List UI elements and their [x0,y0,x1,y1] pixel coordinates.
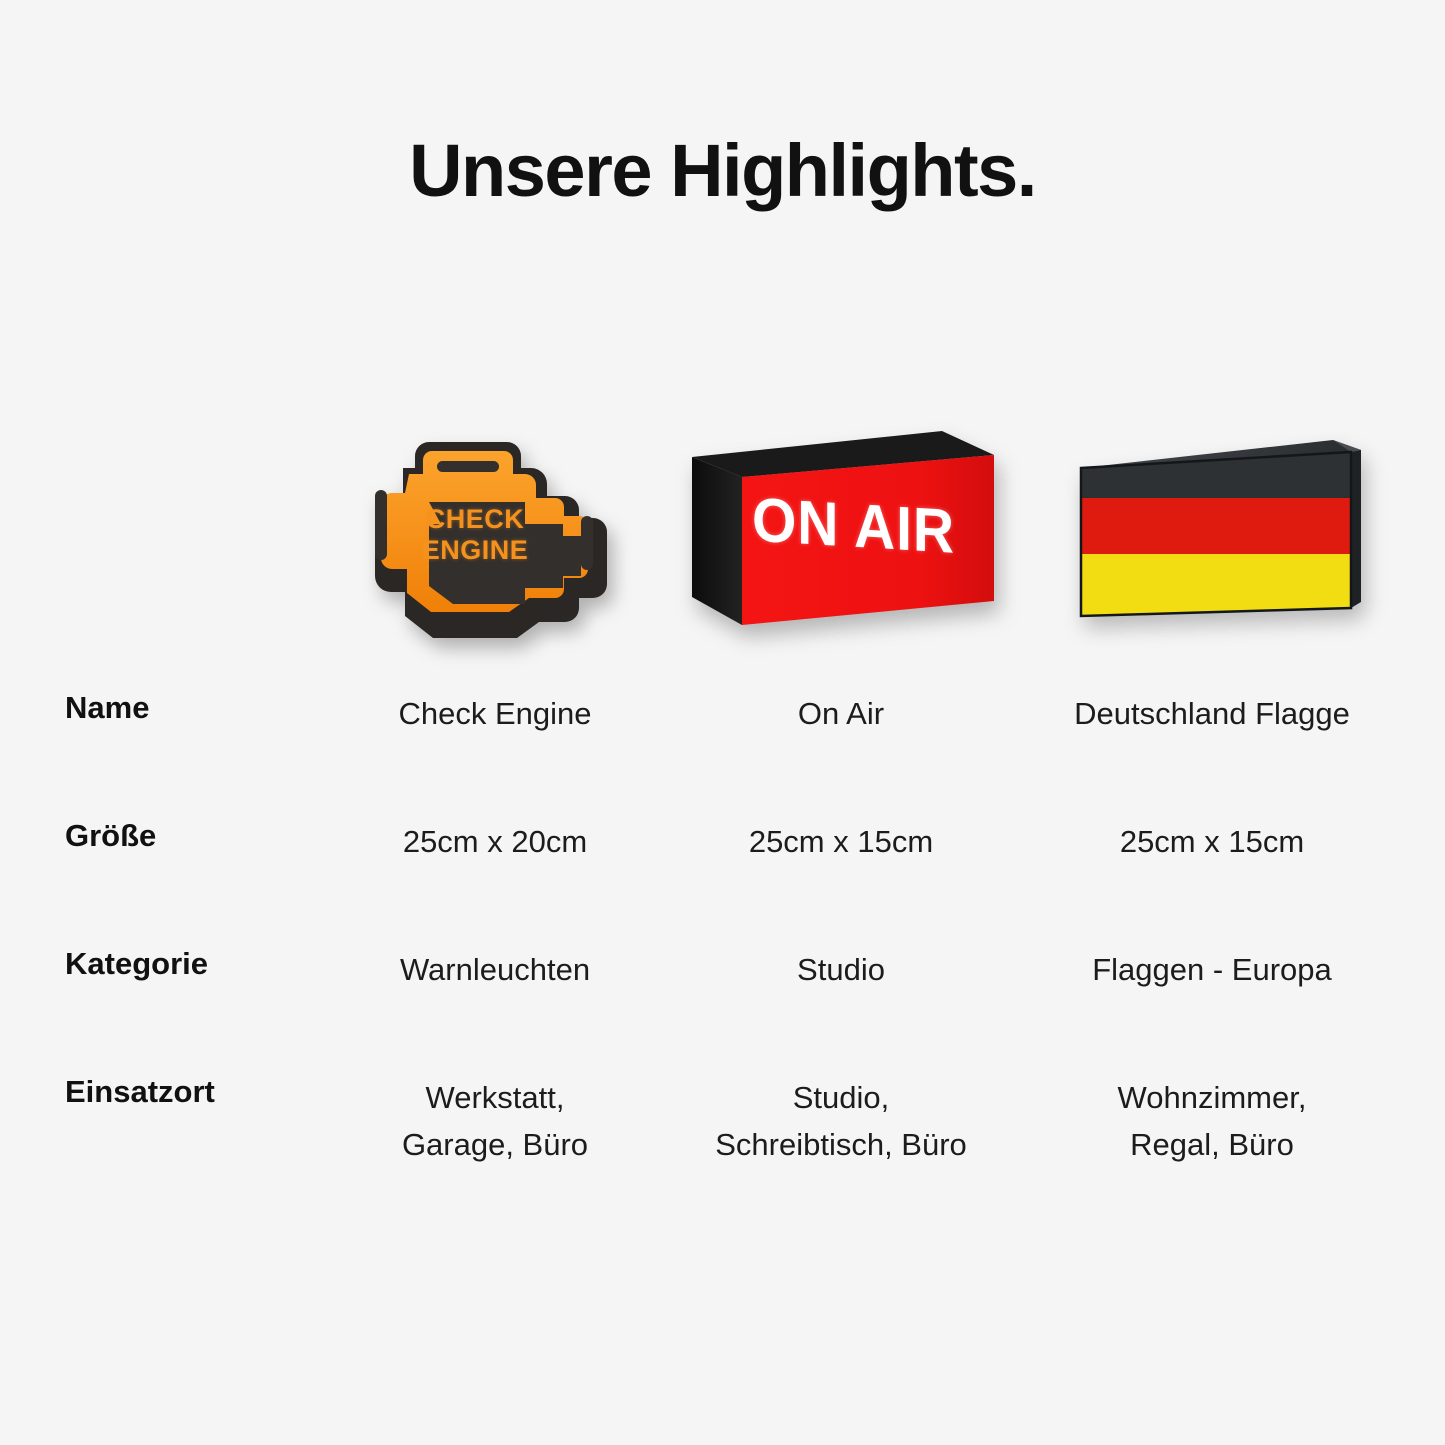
cell-name-on-air: On Air [672,690,1010,737]
check-engine-lamp-icon: CHECK ENGINE [325,418,625,644]
product-comparison-page: Unsere Highlights. [0,0,1445,1445]
on-air-lightbox-icon: ON AIR [684,429,1002,634]
table-row-einsatzort: Einsatzort Werkstatt, Garage, Büro Studi… [0,1074,1445,1224]
cell-category-check-engine: Warnleuchten [300,946,690,993]
cell-size-deutschland-flagge: 25cm x 15cm [1012,818,1412,865]
german-flag-lightbox-icon [1065,434,1365,629]
cell-location-on-air-line1: Studio, [672,1074,1010,1121]
table-row-name: Name Check Engine On Air Deutschland Fla… [0,690,1445,818]
cell-size-on-air: 25cm x 15cm [672,818,1010,865]
cell-location-deutschland-flagge: Wohnzimmer, Regal, Büro [1012,1074,1412,1168]
cell-location-on-air: Studio, Schreibtisch, Büro [672,1074,1010,1168]
cell-category-deutschland-flagge: Flaggen - Europa [1012,946,1412,993]
product-image-on-air[interactable]: ON AIR [665,406,1020,656]
product-image-deutschland-flagge[interactable] [1020,406,1410,656]
table-row-kategorie: Kategorie Warnleuchten Studio Flaggen - … [0,946,1445,1074]
cell-category-on-air: Studio [672,946,1010,993]
product-image-row: CHECK ENGINE [0,406,1445,656]
cell-location-deutschland-flagge-line1: Wohnzimmer, [1012,1074,1412,1121]
attribute-table: Name Check Engine On Air Deutschland Fla… [0,690,1445,1224]
page-title: Unsere Highlights. [0,128,1445,213]
cell-location-deutschland-flagge-line2: Regal, Büro [1012,1121,1412,1168]
cell-name-deutschland-flagge: Deutschland Flagge [1012,690,1412,737]
cell-location-on-air-line2: Schreibtisch, Büro [672,1121,1010,1168]
cell-location-check-engine: Werkstatt, Garage, Büro [300,1074,690,1168]
table-row-groesse: Größe 25cm x 20cm 25cm x 15cm 25cm x 15c… [0,818,1445,946]
cell-location-check-engine-line2: Garage, Büro [300,1121,690,1168]
cell-name-check-engine: Check Engine [300,690,690,737]
cell-location-check-engine-line1: Werkstatt, [300,1074,690,1121]
cell-size-check-engine: 25cm x 20cm [300,818,690,865]
product-image-check-engine[interactable]: CHECK ENGINE [285,406,665,656]
